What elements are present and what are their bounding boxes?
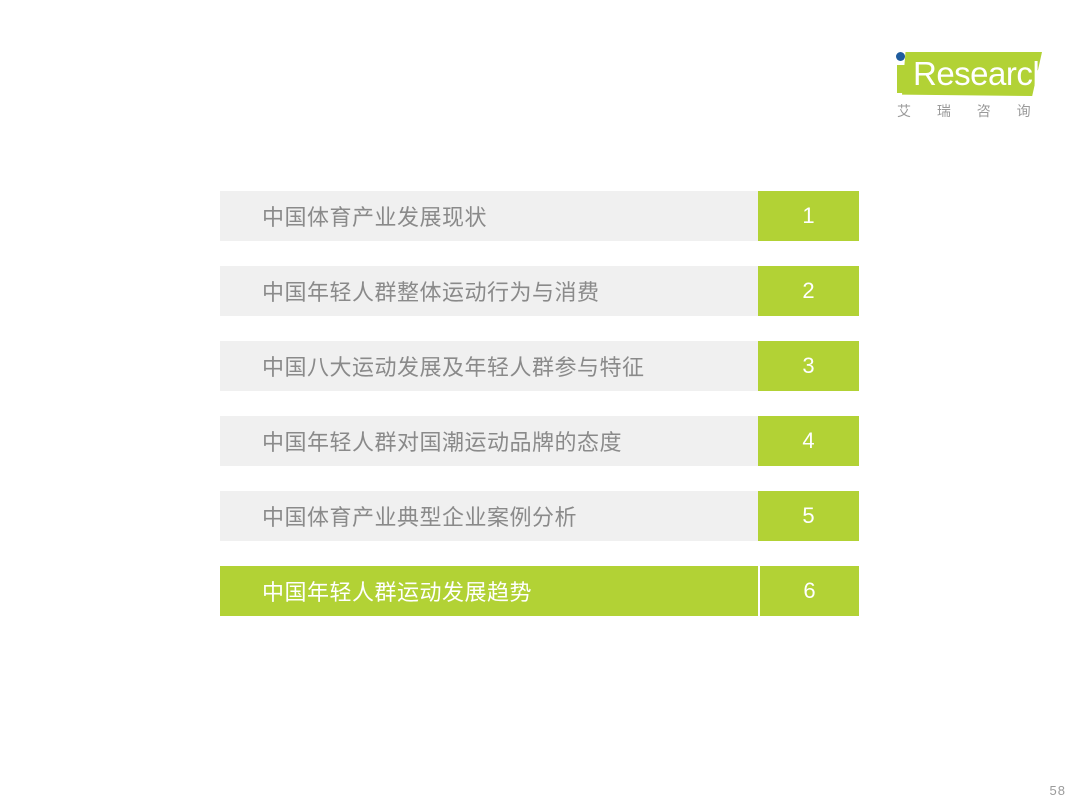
toc-row-label: 中国体育产业典型企业案例分析 bbox=[220, 491, 758, 541]
toc-row-number: 5 bbox=[758, 491, 859, 541]
toc-row-number: 1 bbox=[758, 191, 859, 241]
logo-wordmark: Research bbox=[913, 56, 1050, 92]
toc-row-number: 2 bbox=[758, 266, 859, 316]
toc-row[interactable]: 中国年轻人群整体运动行为与消费 2 bbox=[220, 266, 859, 316]
table-of-contents: 中国体育产业发展现状 1 中国年轻人群整体运动行为与消费 2 中国八大运动发展及… bbox=[220, 191, 859, 616]
toc-row[interactable]: 中国八大运动发展及年轻人群参与特征 3 bbox=[220, 341, 859, 391]
logo-subtitle: 艾 瑞 咨 询 bbox=[897, 101, 1042, 121]
toc-row-label: 中国体育产业发展现状 bbox=[220, 191, 758, 241]
logo-mark: Research bbox=[884, 48, 1064, 100]
toc-row[interactable]: 中国体育产业发展现状 1 bbox=[220, 191, 859, 241]
toc-row-label: 中国八大运动发展及年轻人群参与特征 bbox=[220, 341, 758, 391]
toc-row-label: 中国年轻人群对国潮运动品牌的态度 bbox=[220, 416, 758, 466]
toc-row-number: 4 bbox=[758, 416, 859, 466]
logo-i-dot-icon bbox=[896, 52, 905, 61]
toc-row[interactable]: 中国年轻人群对国潮运动品牌的态度 4 bbox=[220, 416, 859, 466]
page-number: 58 bbox=[1050, 783, 1066, 798]
logo-i-stem-icon bbox=[897, 65, 905, 93]
toc-row-number: 3 bbox=[758, 341, 859, 391]
toc-row[interactable]: 中国体育产业典型企业案例分析 5 bbox=[220, 491, 859, 541]
toc-row-label: 中国年轻人群整体运动行为与消费 bbox=[220, 266, 758, 316]
iresearch-logo: Research 艾 瑞 咨 询 bbox=[884, 48, 1064, 130]
toc-row-active[interactable]: 中国年轻人群运动发展趋势 6 bbox=[220, 566, 859, 616]
toc-row-label: 中国年轻人群运动发展趋势 bbox=[220, 566, 758, 616]
toc-row-number: 6 bbox=[758, 566, 859, 616]
